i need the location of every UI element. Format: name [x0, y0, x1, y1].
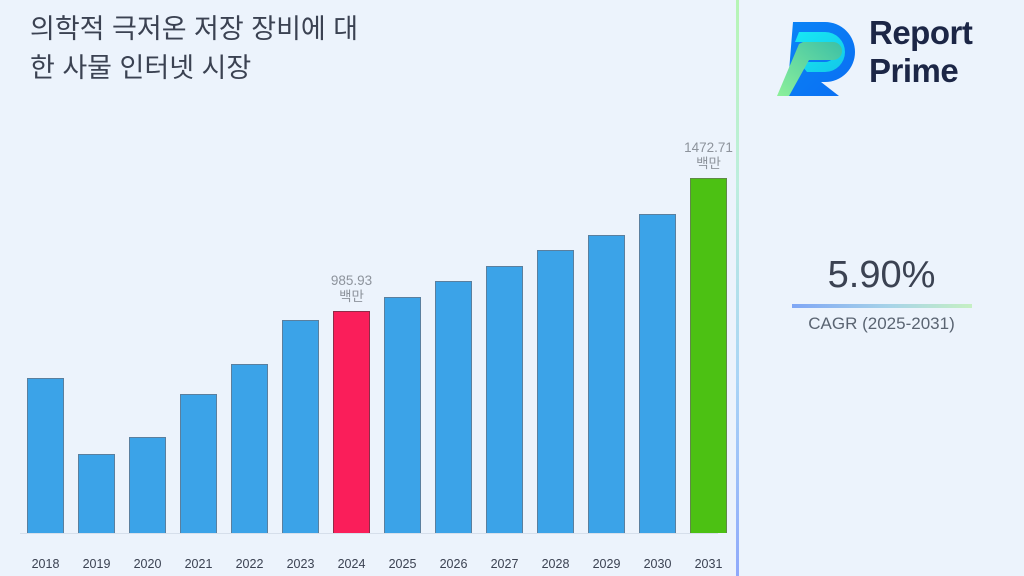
x-axis-baseline [20, 533, 718, 534]
bar-2019[interactable] [78, 454, 115, 533]
cagr-block: 5.90% CAGR (2025-2031) [739, 252, 1024, 336]
report-prime-logo-mark-icon [775, 12, 861, 96]
bar-2023[interactable] [282, 320, 319, 533]
bar-2024[interactable] [333, 311, 370, 533]
bar-column-2020[interactable]: 2020 [122, 63, 173, 533]
bar-2028[interactable] [537, 250, 574, 533]
cagr-value: 5.90% [739, 252, 1024, 298]
cagr-caption: CAGR (2025-2031) [739, 312, 1024, 336]
bar-column-2025[interactable]: 2025 [377, 63, 428, 533]
bar-column-2018[interactable]: 2018 [20, 63, 71, 533]
bar-column-2026[interactable]: 2026 [428, 63, 479, 533]
bar-2021[interactable] [180, 394, 217, 533]
bar-value-label-2031: 1472.71 백만 [671, 140, 746, 172]
brand-name-line-1: Report [869, 14, 972, 52]
bar-column-2029[interactable]: 2029 [581, 63, 632, 533]
bar-column-2022[interactable]: 2022 [224, 63, 275, 533]
brand-name: Report Prime [869, 14, 972, 90]
bar-2026[interactable] [435, 281, 472, 533]
bar-column-2027[interactable]: 2027 [479, 63, 530, 533]
bar-column-2031[interactable]: 1472.71 백만2031 [683, 63, 734, 533]
brand-name-line-2: Prime [869, 52, 972, 90]
chart-panel: 의학적 극저온 저장 장비에 대 한 사물 인터넷 시장 20182019202… [0, 0, 736, 576]
bar-2025[interactable] [384, 297, 421, 533]
bar-column-2019[interactable]: 2019 [71, 63, 122, 533]
brand-logo: Report Prime [775, 8, 1005, 100]
summary-panel: Report Prime 5.90% CAGR (2025-2031) [739, 0, 1024, 576]
bar-2020[interactable] [129, 437, 166, 533]
bar-column-2030[interactable]: 2030 [632, 63, 683, 533]
bar-2029[interactable] [588, 235, 625, 533]
bar-column-2028[interactable]: 2028 [530, 63, 581, 533]
cagr-divider-rule [792, 304, 972, 308]
bar-column-2021[interactable]: 2021 [173, 63, 224, 533]
bar-column-2024[interactable]: 985.93 백만2024 [326, 63, 377, 533]
x-axis-tick-2031: 2031 [677, 557, 740, 571]
chart-infographic-page: 의학적 극저온 저장 장비에 대 한 사물 인터넷 시장 20182019202… [0, 0, 1024, 576]
bar-2027[interactable] [486, 266, 523, 533]
bar-2030[interactable] [639, 214, 676, 533]
bar-2031[interactable] [690, 178, 727, 533]
bar-2022[interactable] [231, 364, 268, 533]
bar-2018[interactable] [27, 378, 64, 533]
